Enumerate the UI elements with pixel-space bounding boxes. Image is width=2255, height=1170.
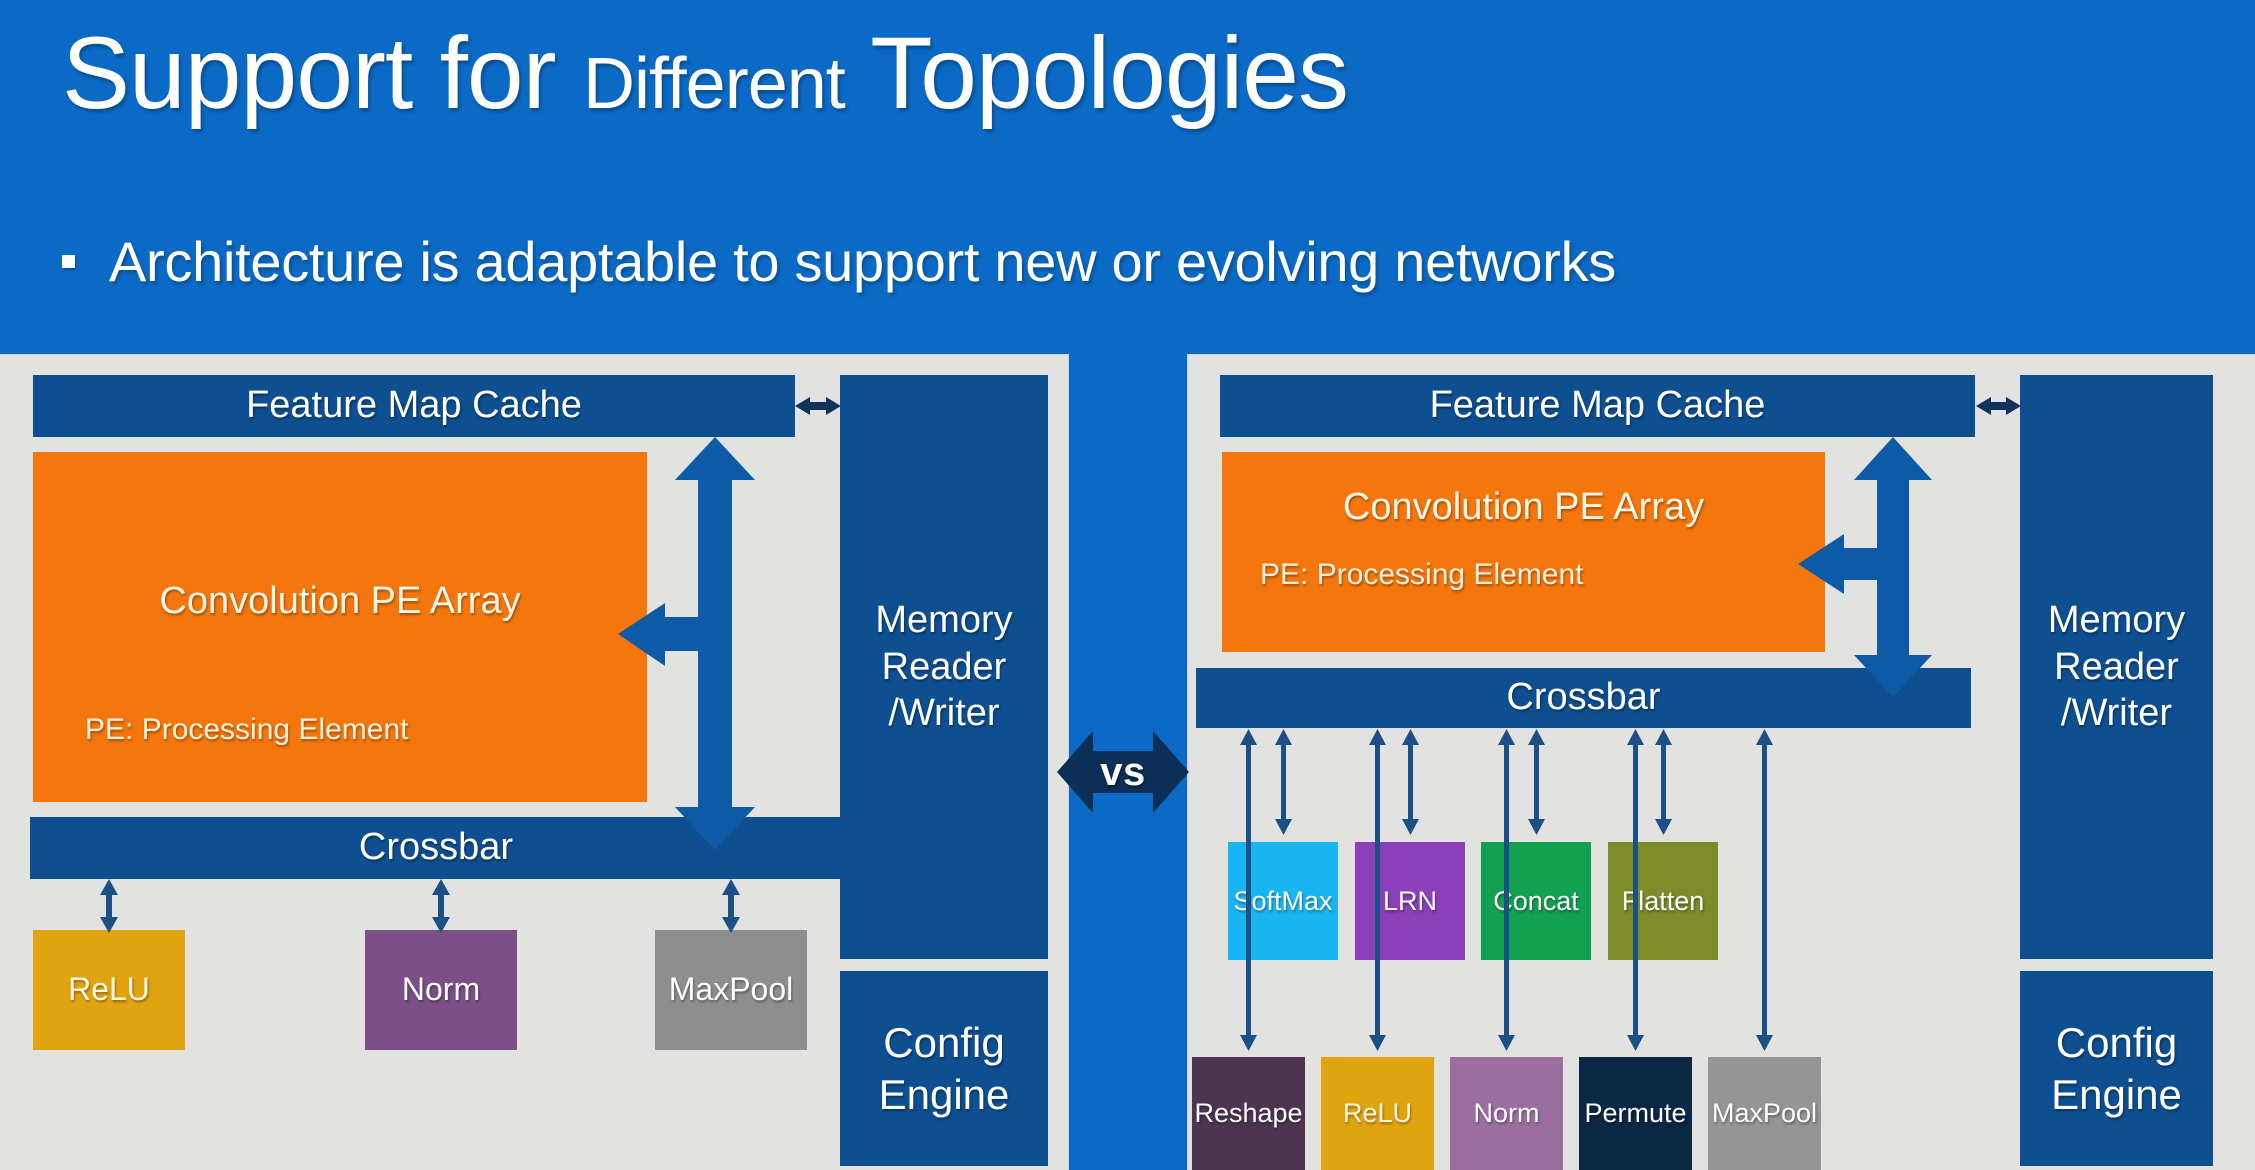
cache-to-memory-arrow-icon [1976, 397, 2021, 415]
bullet-item: Architecture is adaptable to support new… [62, 228, 1616, 294]
right-lower-function-block: ReLU [1321, 1057, 1434, 1170]
title-segment-topologies: Topologies [845, 16, 1348, 130]
right-lower-function-block-label: Permute [1584, 1099, 1686, 1127]
right-lower-function-block: Norm [1450, 1057, 1563, 1170]
left-function-block-label: MaxPool [669, 973, 794, 1007]
right-crossbar-label: Crossbar [1506, 678, 1660, 718]
right-lower-function-block-label: ReLU [1343, 1099, 1412, 1127]
left-function-block: ReLU [33, 930, 185, 1050]
right-config-engine-block: Config Engine [2020, 971, 2213, 1166]
right-architecture-diagram: Feature Map Cache Convolution PE Array P… [1188, 355, 2255, 1170]
right-crossbar-block: Crossbar [1196, 668, 1971, 728]
right-memory-reader-writer-label: Memory Reader /Writer [2048, 597, 2185, 736]
left-architecture-diagram: Feature Map Cache Convolution PE Array P… [0, 355, 1068, 1170]
right-upper-function-block: LRN [1355, 842, 1465, 960]
right-lower-function-block-label: MaxPool [1712, 1099, 1817, 1127]
left-function-block-label: ReLU [68, 973, 150, 1007]
right-config-engine-label: Config Engine [2051, 1017, 2182, 1119]
left-function-block: MaxPool [655, 930, 807, 1050]
left-config-engine-block: Config Engine [840, 971, 1048, 1166]
left-feature-map-cache-label: Feature Map Cache [246, 386, 582, 426]
right-memory-reader-writer-block: Memory Reader /Writer [2020, 375, 2213, 959]
right-feature-map-cache-label: Feature Map Cache [1430, 386, 1766, 426]
slide: Support for Different Topologies Archite… [0, 0, 2255, 1170]
left-crossbar-link-arrows-icon [100, 879, 740, 933]
title-segment-support-for: Support for [62, 16, 583, 130]
right-lower-function-block-label: Reshape [1194, 1099, 1302, 1127]
right-crossbar-to-upper-arrows-icon [1275, 729, 1672, 835]
left-feature-map-cache-block: Feature Map Cache [33, 375, 795, 437]
right-pe-array-title: Convolution PE Array [1222, 483, 1825, 533]
right-lower-function-block: Permute [1579, 1057, 1692, 1170]
right-upper-function-block-label: Concat [1493, 887, 1579, 915]
right-upper-function-block: Concat [1481, 842, 1591, 960]
right-lower-function-block: MaxPool [1708, 1057, 1821, 1170]
vs-label: vs [1057, 717, 1189, 827]
right-upper-function-block-label: SoftMax [1233, 887, 1332, 915]
right-pe-array-note: PE: Processing Element [1222, 555, 1825, 595]
left-memory-reader-writer-label: Memory Reader /Writer [875, 597, 1012, 736]
vs-comparison-badge: vs [1057, 717, 1189, 827]
left-config-engine-label: Config Engine [879, 1017, 1010, 1119]
right-pe-array-block [1222, 452, 1825, 652]
left-function-block: Norm [365, 930, 517, 1050]
right-upper-function-block-label: LRN [1383, 887, 1437, 915]
left-crossbar-label: Crossbar [359, 828, 513, 868]
right-lower-function-block-label: Norm [1474, 1099, 1540, 1127]
page-title: Support for Different Topologies [62, 8, 2162, 138]
left-pe-array-note: PE: Processing Element [33, 710, 647, 750]
right-feature-map-cache-block: Feature Map Cache [1220, 375, 1975, 437]
title-segment-different: Different [583, 44, 845, 124]
left-pe-array-title: Convolution PE Array [33, 577, 647, 627]
bullet-text: Architecture is adaptable to support new… [109, 229, 1616, 294]
left-function-block-label: Norm [402, 973, 480, 1007]
left-memory-reader-writer-block: Memory Reader /Writer [840, 375, 1048, 959]
left-crossbar-block: Crossbar [30, 817, 842, 879]
square-bullet-icon [62, 255, 75, 268]
right-lower-function-block: Reshape [1192, 1057, 1305, 1170]
cache-to-memory-arrow-icon [795, 397, 841, 415]
right-upper-function-block: SoftMax [1228, 842, 1338, 960]
right-upper-function-block: Flatten [1608, 842, 1718, 960]
right-upper-function-block-label: Flatten [1622, 887, 1705, 915]
